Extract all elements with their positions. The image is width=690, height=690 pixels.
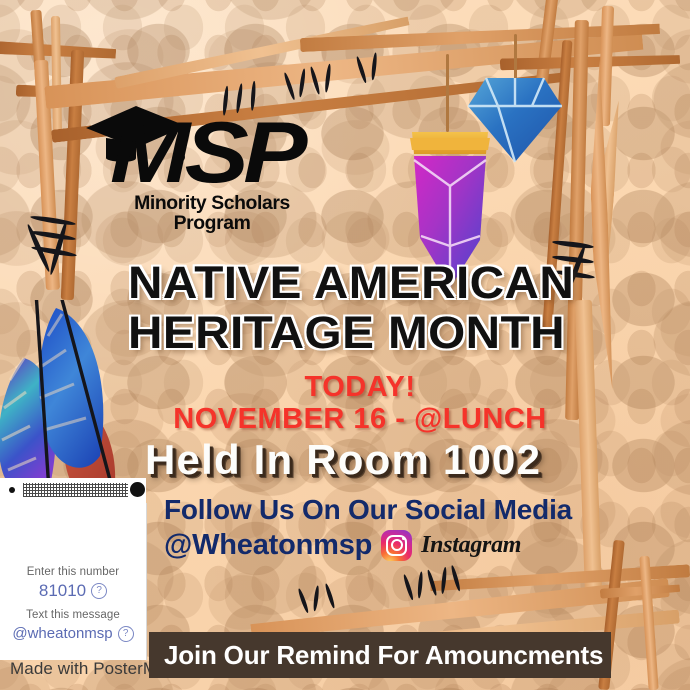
event-date-block: TODAY! NOVEMBER 16 - @LUNCH bbox=[150, 372, 570, 435]
remind-cta-banner[interactable]: Join Our Remind For Amouncments bbox=[149, 632, 611, 678]
event-location: Held In Room 1002 bbox=[145, 437, 615, 483]
event-datetime: NOVEMBER 16 - @LUNCH bbox=[150, 403, 570, 435]
help-icon-message[interactable]: ? bbox=[118, 626, 134, 642]
blue-gem-pendant bbox=[466, 62, 564, 166]
remind-number-row: 81010 ? bbox=[0, 581, 146, 601]
social-media-section: Follow Us On Our Social Media @Wheatonms… bbox=[164, 494, 594, 562]
remind-message-label: Text this message bbox=[0, 608, 146, 622]
perforation-hatch bbox=[23, 483, 128, 497]
instagram-icon[interactable] bbox=[381, 530, 412, 561]
msp-subtitle: Minority Scholars Program bbox=[98, 194, 326, 234]
remind-card-perforation bbox=[0, 478, 146, 503]
help-icon-number[interactable]: ? bbox=[91, 583, 107, 599]
headline-line-2: HERITAGE MONTH bbox=[128, 308, 626, 358]
poster-canvas: MSP Minority Scholars Program NATIVE AME… bbox=[0, 0, 690, 690]
msp-wordmark: MSP bbox=[74, 110, 338, 196]
remind-number-label: Enter this number bbox=[0, 565, 146, 579]
remind-message-row: @wheatonmsp ? bbox=[0, 624, 146, 644]
page-title: NATIVE AMERICAN HERITAGE MONTH bbox=[128, 258, 626, 358]
perforation-dot-small bbox=[9, 487, 15, 493]
remind-cta-text: Join Our Remind For Amouncments bbox=[149, 641, 603, 669]
social-prompt: Follow Us On Our Social Media bbox=[164, 494, 594, 526]
remind-instructions-card: Enter this number 81010 ? Text this mess… bbox=[0, 503, 147, 660]
perforation-dot-large bbox=[130, 482, 145, 497]
social-handle: @Wheatonmsp bbox=[164, 528, 372, 562]
today-label: TODAY! bbox=[150, 372, 570, 403]
remind-message-value: @wheatonmsp bbox=[12, 624, 112, 644]
headline-line-1: NATIVE AMERICAN bbox=[128, 258, 626, 308]
remind-number-value: 81010 bbox=[39, 581, 86, 601]
msp-logo: MSP Minority Scholars Program bbox=[88, 108, 324, 226]
instagram-wordmark: Instagram bbox=[421, 532, 521, 558]
